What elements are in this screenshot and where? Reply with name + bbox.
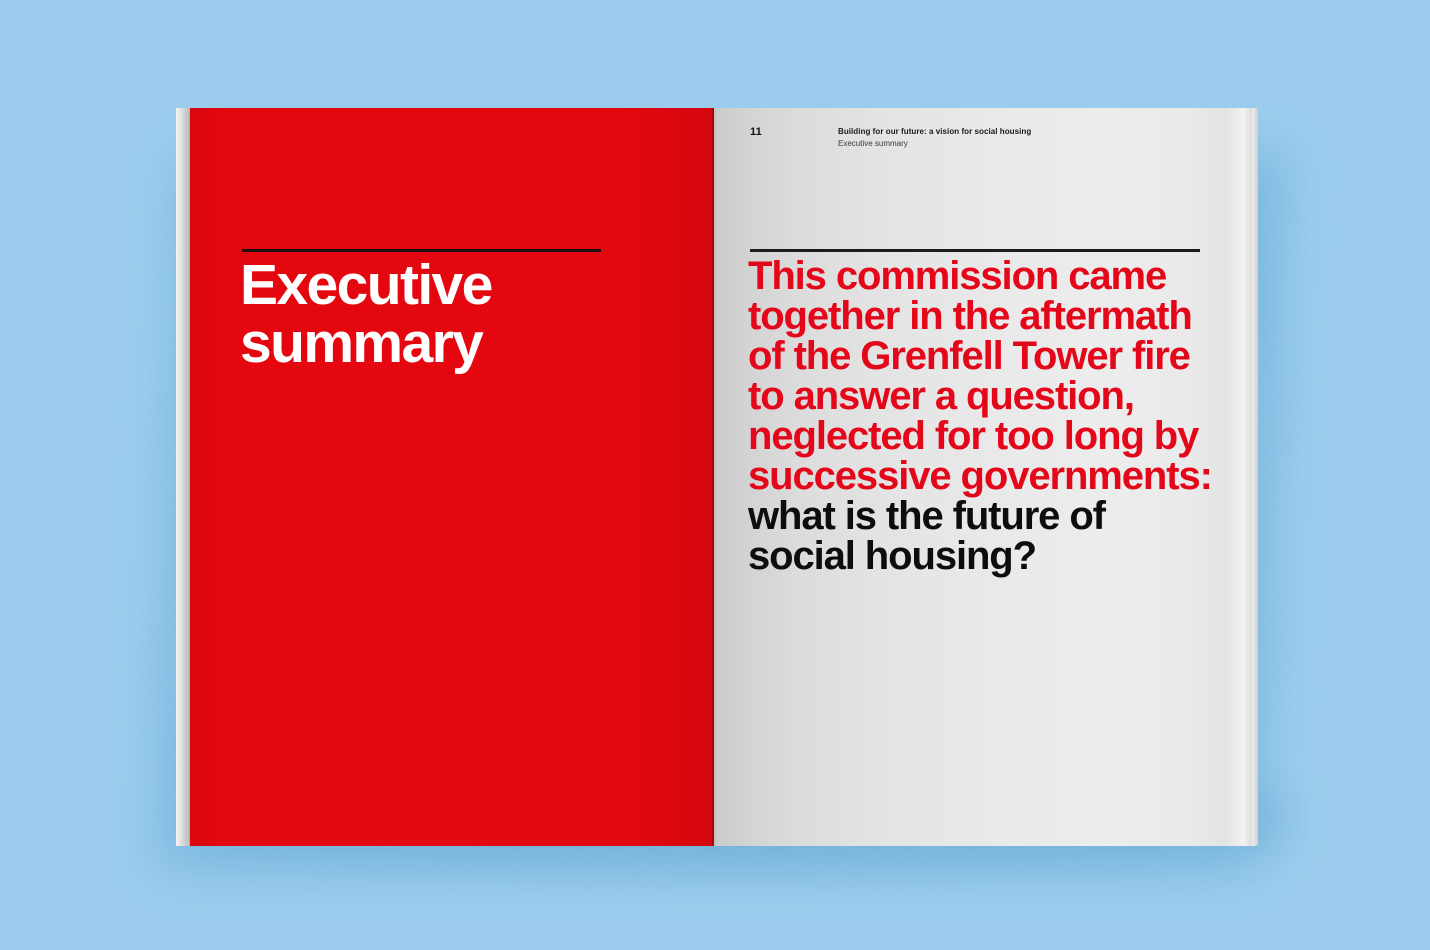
right-page-rule (750, 249, 1200, 252)
left-page-edge-stack (176, 108, 190, 846)
section-title-line-1: Executive (240, 253, 492, 317)
headline-red-line-5: neglected for too long by (748, 416, 1218, 456)
headline-red-line-6: successive governments: (748, 456, 1218, 496)
headline-red-line-2: together in the aftermath (748, 296, 1218, 336)
page-stage: Executive summary 11 Building for our fu… (0, 0, 1430, 950)
headline-red-line-4: to answer a question, (748, 376, 1218, 416)
right-page: 11 Building for our future: a vision for… (716, 108, 1252, 846)
open-book-spread: Executive summary 11 Building for our fu… (176, 108, 1252, 846)
running-head: 11 Building for our future: a vision for… (750, 126, 1218, 149)
running-head-text: Building for our future: a vision for so… (838, 126, 1031, 149)
section-title-line-2: summary (240, 314, 670, 372)
running-head-title: Building for our future: a vision for so… (838, 126, 1031, 138)
page-number: 11 (750, 126, 838, 138)
left-page: Executive summary (190, 108, 712, 846)
headline-black-line-2: social housing? (748, 536, 1218, 576)
headline-black-line-1: what is the future of (748, 496, 1218, 536)
pull-quote-headline: This commission came together in the aft… (748, 256, 1218, 576)
running-head-subtitle: Executive summary (838, 138, 1031, 150)
headline-red-line-1: This commission came (748, 256, 1218, 296)
headline-red-line-3: of the Grenfell Tower fire (748, 336, 1218, 376)
left-page-rule (242, 249, 601, 252)
section-title: Executive summary (240, 256, 670, 372)
right-page-edge (1252, 108, 1258, 846)
